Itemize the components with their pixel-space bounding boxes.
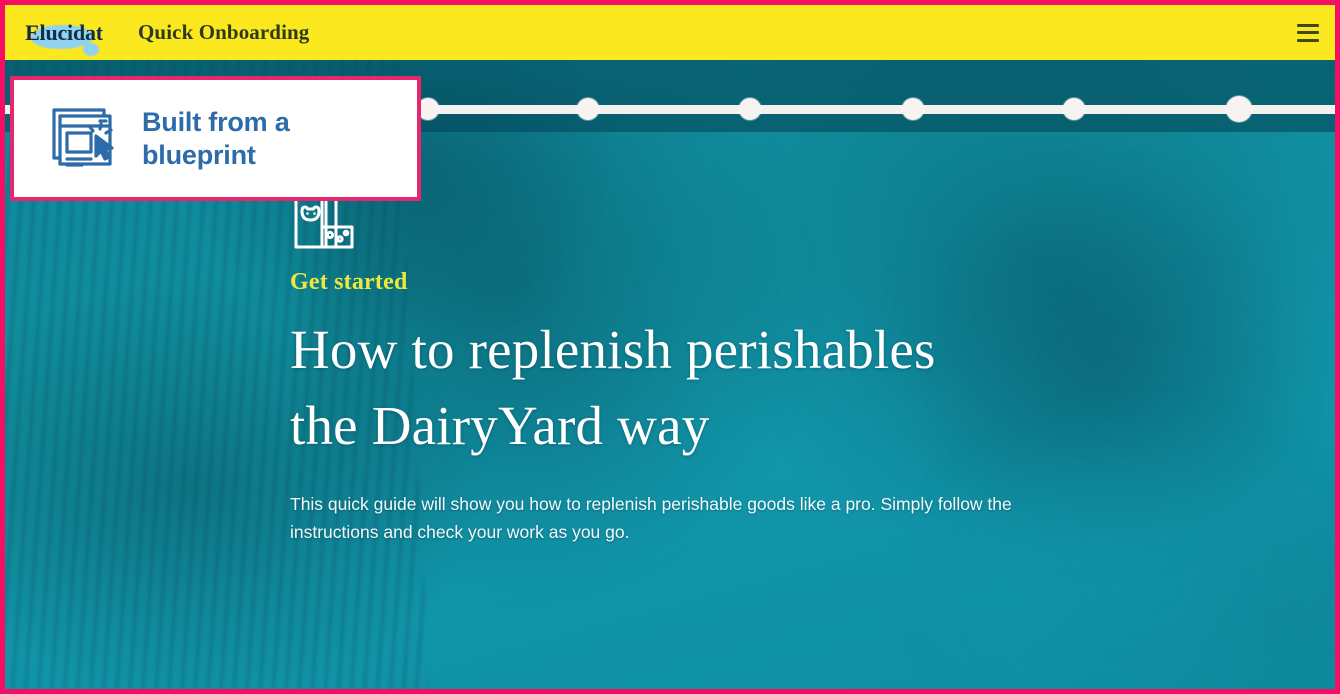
stacked-windows-cursor-icon	[46, 102, 120, 176]
browser-frame: Get started How to replenish perishables…	[0, 0, 1340, 694]
elucidat-cloud-logo[interactable]: Elucidat	[17, 16, 111, 50]
logo-text: Elucidat	[25, 20, 103, 46]
hero-eyebrow: Get started	[290, 269, 1080, 296]
progress-step-dot-2[interactable]	[577, 98, 599, 120]
menu-line	[1297, 39, 1319, 42]
app-title: Quick Onboarding	[138, 20, 309, 45]
menu-line	[1297, 31, 1319, 34]
app-header-bar: Elucidat Quick Onboarding	[5, 5, 1335, 60]
page-title: How to replenish perishables the DairyYa…	[290, 312, 1080, 464]
progress-step-dot-4[interactable]	[902, 98, 924, 120]
hero-body-text: This quick guide will show you how to re…	[290, 490, 1050, 547]
hero-content: Get started How to replenish perishables…	[290, 175, 1080, 546]
progress-step-dot-6[interactable]	[1226, 96, 1252, 122]
progress-step-dot-3[interactable]	[739, 98, 761, 120]
progress-step-dot-5[interactable]	[1063, 98, 1085, 120]
built-from-blueprint-callout[interactable]: Built from a blueprint	[10, 76, 421, 201]
headline-line-1: How to replenish perishables	[290, 319, 936, 380]
headline-line-2: the DairyYard way	[290, 395, 709, 456]
hamburger-menu-icon[interactable]	[1297, 24, 1319, 42]
menu-line	[1297, 24, 1319, 27]
blueprint-card-label: Built from a blueprint	[142, 106, 401, 172]
